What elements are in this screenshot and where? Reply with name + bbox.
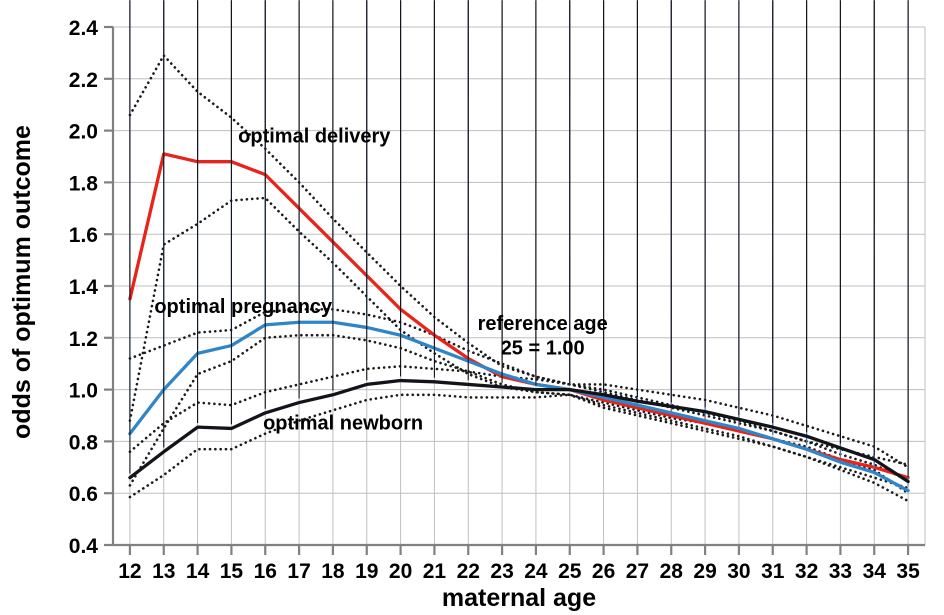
x-tick-label: 27 xyxy=(626,560,649,583)
x-tick-label: 32 xyxy=(795,560,818,583)
annotation-reference-age-line2: 25 = 1.00 xyxy=(501,338,585,360)
x-tick-label: 23 xyxy=(490,560,513,583)
y-tick-label: 0.8 xyxy=(69,431,99,454)
x-tick-label: 31 xyxy=(761,560,785,583)
x-tick-label: 14 xyxy=(186,560,210,583)
x-tick-label: 22 xyxy=(457,560,480,583)
y-tick-label: 2.4 xyxy=(69,17,99,40)
odds-of-optimum-outcome-line-chart: 0.40.60.81.01.21.41.61.82.02.22.41213141… xyxy=(0,0,944,615)
y-tick-label: 1.8 xyxy=(69,172,99,195)
y-tick-label: 1.2 xyxy=(69,328,98,351)
x-tick-label: 33 xyxy=(829,560,852,583)
y-tick-label: 1.4 xyxy=(69,276,99,299)
x-tick-label: 34 xyxy=(863,560,887,583)
chart-background xyxy=(0,0,944,615)
y-tick-label: 0.4 xyxy=(69,535,99,558)
annotation-optimal-newborn: optimal newborn xyxy=(263,413,423,435)
x-tick-label: 35 xyxy=(896,560,920,583)
x-tick-label: 29 xyxy=(693,560,716,583)
x-tick-label: 21 xyxy=(423,560,447,583)
chart-container: 0.40.60.81.01.21.41.61.82.02.22.41213141… xyxy=(0,0,944,615)
y-tick-label: 1.6 xyxy=(69,224,98,247)
x-axis-title: maternal age xyxy=(442,584,596,612)
y-tick-label: 2.2 xyxy=(69,69,98,92)
x-tick-label: 15 xyxy=(220,560,244,583)
x-tick-label: 12 xyxy=(118,560,141,583)
x-tick-label: 25 xyxy=(558,560,582,583)
x-tick-label: 17 xyxy=(287,560,310,583)
x-tick-label: 24 xyxy=(524,560,548,583)
annotation-optimal-pregnancy: optimal pregnancy xyxy=(154,296,333,318)
x-tick-label: 13 xyxy=(152,560,175,583)
y-tick-label: 0.6 xyxy=(69,483,98,506)
y-tick-label: 1.0 xyxy=(69,380,98,403)
x-tick-label: 28 xyxy=(660,560,684,583)
x-tick-label: 20 xyxy=(389,560,412,583)
x-tick-label: 30 xyxy=(727,560,750,583)
x-tick-label: 16 xyxy=(254,560,277,583)
annotation-optimal-delivery: optimal delivery xyxy=(238,125,391,147)
annotation-reference-age-line1: reference age xyxy=(478,313,608,335)
x-tick-label: 26 xyxy=(592,560,615,583)
x-tick-label: 19 xyxy=(355,560,378,583)
y-axis-title: odds of optimum outcome xyxy=(8,125,36,439)
x-tick-label: 18 xyxy=(321,560,345,583)
y-tick-label: 2.0 xyxy=(69,121,98,144)
